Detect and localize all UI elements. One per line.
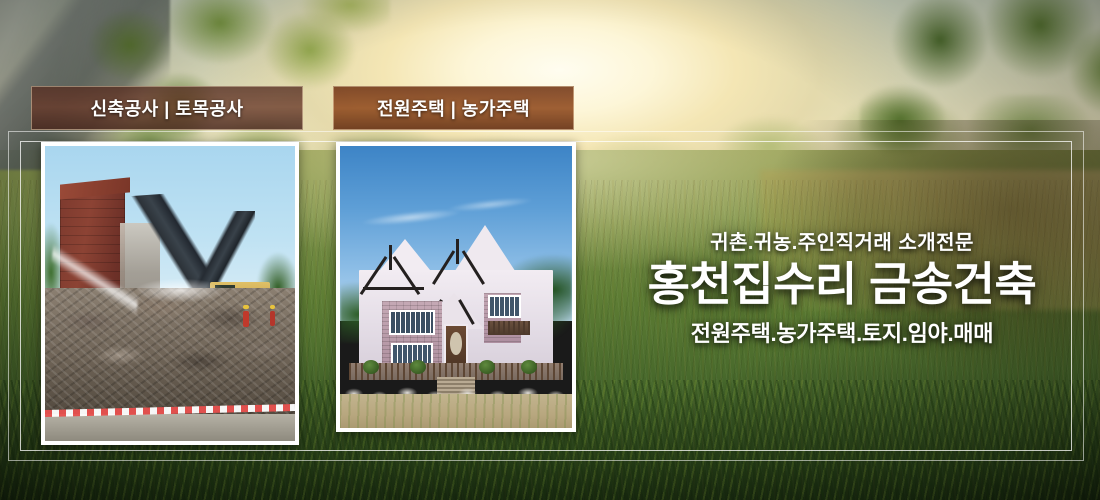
- timber-beam: [456, 239, 459, 264]
- photo-demolition[interactable]: [41, 142, 299, 445]
- concrete-ground-slab: [45, 414, 295, 441]
- garden-shrub: [410, 360, 426, 374]
- banner-stage: 신축공사 | 토목공사 전원주택 | 농가주택: [0, 0, 1100, 500]
- photo-demolition-image: [45, 146, 295, 441]
- water-spray: [47, 242, 143, 316]
- house-balcony: [488, 321, 530, 335]
- tab-construction-civil[interactable]: 신축공사 | 토목공사: [31, 86, 303, 130]
- tab-country-farm-house[interactable]: 전원주택 | 농가주택: [333, 86, 574, 130]
- house-door-oval-glass: [450, 332, 462, 355]
- photo-country-house[interactable]: [336, 142, 576, 432]
- tab-country-farm-house-label: 전원주택 | 농가주택: [377, 95, 530, 121]
- tab-construction-civil-label: 신축공사 | 토목공사: [90, 95, 243, 121]
- headline-subtitle: 전원주택.농가주택.토지.임야.매매: [596, 316, 1088, 348]
- photo-country-house-image: [340, 146, 572, 428]
- timber-beam: [389, 245, 392, 270]
- headline-block: 귀촌.귀농.주인직거래 소개전문 홍천집수리 금송건축 전원주택.농가주택.토지…: [596, 226, 1088, 348]
- house-window-right: [488, 295, 520, 318]
- page-title: 홍천집수리 금송건축: [596, 260, 1088, 310]
- worker-figure-one: [243, 311, 249, 327]
- headline-eyebrow: 귀촌.귀농.주인직거래 소개전문: [596, 226, 1088, 255]
- worker-helmet-one: [243, 305, 249, 309]
- timber-beam: [363, 287, 423, 290]
- house-front-field: [340, 394, 572, 428]
- house-window-left-upper: [389, 310, 435, 335]
- worker-figure-two: [270, 311, 275, 326]
- dust-cloud: [130, 270, 230, 311]
